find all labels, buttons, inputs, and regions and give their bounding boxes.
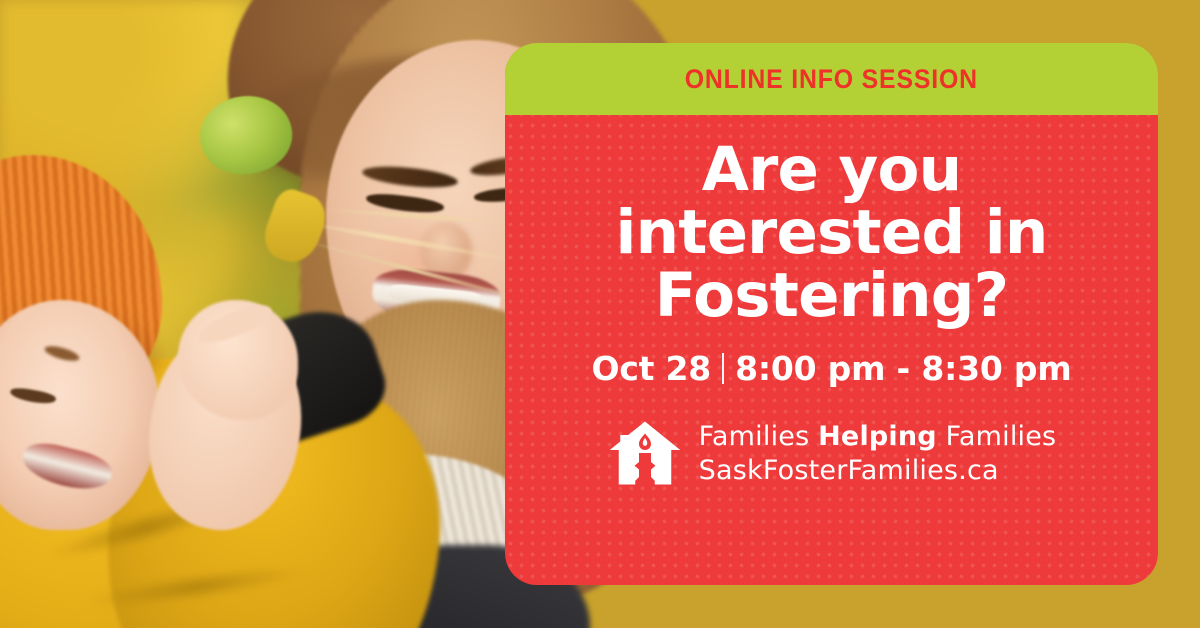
promo-card: ONLINE INFO SESSION Are you interested i… (505, 43, 1158, 585)
house-with-candle-icon (607, 420, 683, 486)
event-date: Oct 28 (591, 349, 711, 388)
organization-logo: Families Helping Families SaskFosterFami… (607, 420, 1057, 486)
brand-post: Families (937, 421, 1056, 452)
ribbon-label: ONLINE INFO SESSION (685, 64, 978, 95)
headline-line-1: Are you (616, 139, 1048, 202)
card-body: Are you interested in Fostering? Oct 28 … (505, 115, 1158, 585)
brand-pre: Families (699, 421, 818, 452)
brand-bold: Helping (818, 421, 937, 452)
headline-line-2: interested in (616, 202, 1048, 265)
event-time: 8:00 pm - 8:30 pm (735, 349, 1071, 388)
brand-name: Families Helping Families (699, 421, 1057, 452)
event-datetime: Oct 28 8:00 pm - 8:30 pm (591, 349, 1071, 388)
session-ribbon: ONLINE INFO SESSION (505, 43, 1158, 115)
headline-line-3: Fostering? (616, 265, 1048, 328)
datetime-separator (722, 353, 724, 384)
page-title: Are you interested in Fostering? (616, 139, 1048, 327)
logo-wordmark: Families Helping Families SaskFosterFami… (699, 421, 1057, 486)
poster-canvas: ONLINE INFO SESSION Are you interested i… (0, 0, 1200, 628)
website-url: SaskFosterFamilies.ca (699, 455, 999, 486)
